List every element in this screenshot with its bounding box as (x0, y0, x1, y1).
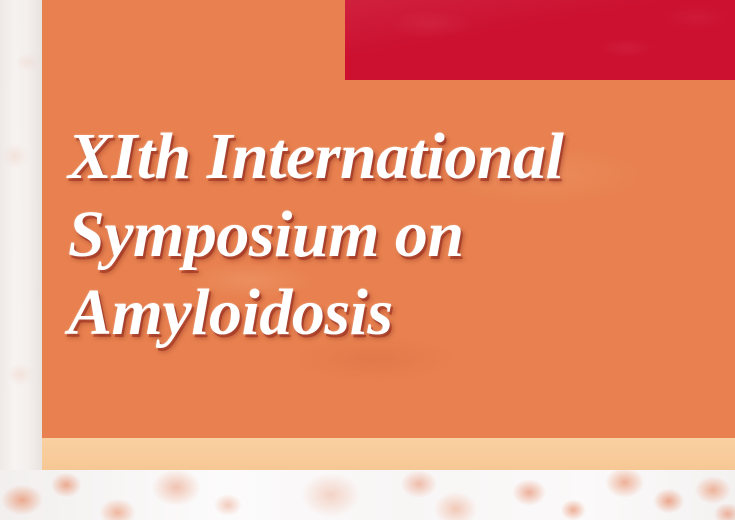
peach-divider-band (42, 438, 735, 473)
title-line-1: XIth International (68, 118, 708, 196)
title-line-2: Symposium on (68, 196, 708, 274)
spine-strip (0, 0, 42, 520)
cover-title: XIth International Symposium on Amyloido… (68, 118, 708, 352)
title-line-3: Amyloidosis (68, 274, 708, 352)
book-cover: David C. Seldin XIth International Sympo… (0, 0, 735, 520)
bottom-histology-texture (0, 470, 735, 520)
editor-red-banner: David C. Seldin (345, 0, 735, 80)
editor-name: David C. Seldin (345, 0, 735, 4)
